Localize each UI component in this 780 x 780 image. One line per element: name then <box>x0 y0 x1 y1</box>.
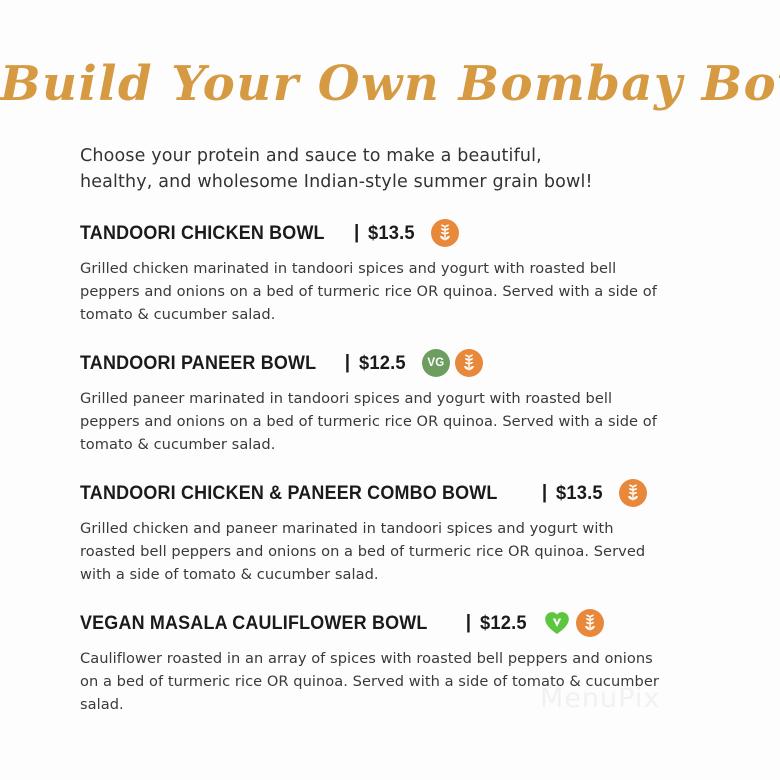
gluten-icon <box>576 609 604 637</box>
menu-item-separator: | <box>466 612 471 634</box>
menu-item-price: $13.5 <box>556 482 603 505</box>
menu-subtitle: Choose your protein and sauce to make a … <box>80 143 680 195</box>
menu-item-header: TANDOORI CHICKEN BOWL | $13.5 <box>80 218 700 248</box>
menu-item-price: $12.5 <box>480 612 527 635</box>
menu-item-price: $12.5 <box>359 352 406 375</box>
menu-item-name: TANDOORI CHICKEN BOWL <box>80 222 325 245</box>
menu-item: TANDOORI PANEER BOWL | $12.5 VG <box>80 348 700 456</box>
menu-item-badges <box>619 479 647 507</box>
menu-item-name: TANDOORI PANEER BOWL <box>80 352 316 375</box>
subtitle-line-1: Choose your protein and sauce to make a … <box>80 143 680 169</box>
menu-item: TANDOORI CHICKEN BOWL | $13.5 <box>80 218 700 326</box>
menu-item-separator: | <box>354 222 359 244</box>
menu-item: TANDOORI CHICKEN & PANEER COMBO BOWL | $… <box>80 478 700 586</box>
menu-item-price: $13.5 <box>368 222 415 245</box>
vg-icon-label: VG <box>427 357 444 369</box>
menu-item-badges <box>431 219 459 247</box>
gluten-icon <box>455 349 483 377</box>
vg-icon: VG <box>422 349 450 377</box>
page-title: Build Your Own Bombay Bowl <box>0 58 780 111</box>
gluten-icon <box>619 479 647 507</box>
menu-item-header: VEGAN MASALA CAULIFLOWER BOWL | $12.5 <box>80 608 700 638</box>
menu-item-list: TANDOORI CHICKEN BOWL | $13.5 <box>80 218 700 738</box>
menu-item-description: Grilled chicken and paneer marinated in … <box>80 517 665 586</box>
menu-item-header: TANDOORI CHICKEN & PANEER COMBO BOWL | $… <box>80 478 700 508</box>
gluten-icon <box>431 219 459 247</box>
menu-item-name: VEGAN MASALA CAULIFLOWER BOWL <box>80 612 428 635</box>
subtitle-line-2: healthy, and wholesome Indian-style summ… <box>80 169 680 195</box>
menu-item-badges: VG <box>422 349 483 377</box>
menu-item-description: Grilled paneer marinated in tandoori spi… <box>80 387 665 456</box>
menu-item-description: Cauliflower roasted in an array of spice… <box>80 647 665 716</box>
menu-item-name: TANDOORI CHICKEN & PANEER COMBO BOWL <box>80 482 498 505</box>
vegan-heart-icon <box>543 609 571 637</box>
menu-item-separator: | <box>542 482 547 504</box>
menu-page: Build Your Own Bombay Bowl Choose your p… <box>0 0 780 780</box>
menu-item: VEGAN MASALA CAULIFLOWER BOWL | $12.5 <box>80 608 700 716</box>
menu-item-description: Grilled chicken marinated in tandoori sp… <box>80 257 665 326</box>
menu-item-separator: | <box>345 352 350 374</box>
menu-item-badges <box>543 609 604 637</box>
menu-item-header: TANDOORI PANEER BOWL | $12.5 VG <box>80 348 700 378</box>
